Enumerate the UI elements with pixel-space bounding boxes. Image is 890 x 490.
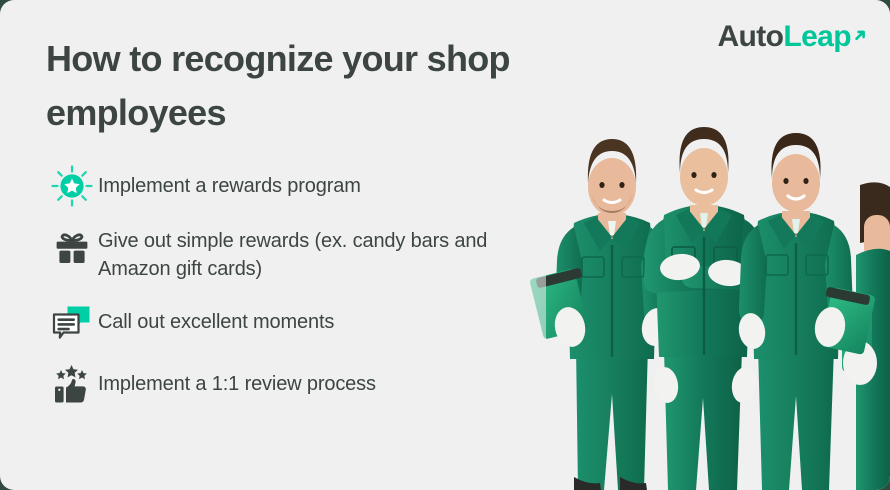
- thumbs-up-stars-icon: [46, 360, 98, 408]
- list-item: Call out excellent moments: [46, 298, 546, 346]
- list-item-label: Implement a 1:1 review process: [98, 360, 376, 398]
- list-item: Implement a 1:1 review process: [46, 360, 546, 408]
- tips-list: Implement a rewards program Give out sim…: [46, 162, 546, 422]
- list-item-label: Call out excellent moments: [98, 298, 334, 336]
- infographic-card: AutoLeap How to recognize your shop empl…: [0, 0, 890, 490]
- arrow-up-right-icon: [852, 20, 868, 50]
- shining-star-icon: [46, 162, 98, 210]
- list-item-label: Implement a rewards program: [98, 162, 361, 200]
- list-item: Give out simple rewards (ex. candy bars …: [46, 224, 546, 284]
- list-item-label: Give out simple rewards (ex. candy bars …: [98, 224, 546, 284]
- logo-text-leap: Leap: [783, 22, 851, 52]
- speech-bubbles-icon: [46, 298, 98, 346]
- list-item: Implement a rewards program: [46, 162, 546, 210]
- gift-box-icon: [46, 224, 98, 272]
- shop-employees-photo: [530, 95, 890, 490]
- autoleap-logo[interactable]: AutoLeap: [717, 22, 868, 52]
- logo-text-auto: Auto: [717, 22, 783, 52]
